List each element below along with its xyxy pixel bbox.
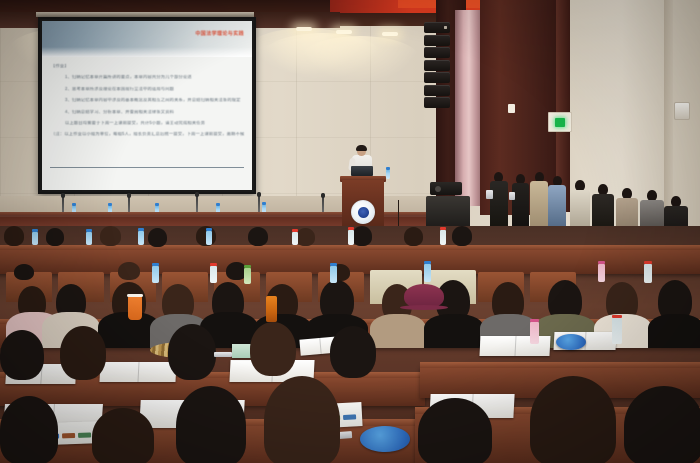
handout-image: [78, 432, 91, 437]
person-head: [250, 322, 296, 376]
person-head: [46, 228, 64, 246]
person-body: [530, 181, 548, 230]
person-head: [168, 324, 216, 380]
open-book: [479, 336, 550, 356]
person-head-foreground: [530, 376, 616, 463]
gooseneck-microphone: [196, 195, 198, 213]
person-head: [352, 226, 372, 246]
wall-light-glow: [300, 36, 420, 82]
university-emblem: [351, 200, 375, 224]
gooseneck-microphone: [258, 195, 260, 213]
person-head: [330, 326, 376, 378]
speaker-module: [424, 35, 450, 46]
water-bottle: [32, 232, 38, 245]
person-head-foreground: [176, 386, 246, 463]
line-array-speaker: [424, 22, 450, 114]
standing-person: [490, 172, 508, 228]
water-bottle: [424, 264, 431, 282]
podium: [340, 172, 386, 234]
slide-line: 3、归纳记忆本章内容中涉及的基本概念及其相互之间的关系，并总结归纳相关法条的规定: [51, 98, 244, 102]
desk-row: [0, 248, 700, 274]
person-shoulders: [424, 314, 484, 348]
standing-person: [548, 176, 566, 232]
person-head: [60, 326, 106, 380]
felt-hat: [404, 284, 444, 308]
person-head-foreground: [624, 386, 700, 463]
person-head-foreground: [418, 398, 492, 463]
water-bottle: [440, 230, 446, 245]
slide-line: 1、归纳记忆本章开篇所讲的要点，本章内容共分为几个部分论述: [51, 75, 244, 79]
person-head-foreground: [92, 408, 154, 463]
water-bottle: [152, 266, 159, 283]
person-head: [4, 226, 24, 246]
blue-container-lid: [556, 334, 586, 350]
person-body: [490, 181, 508, 228]
mobile-phone: [214, 352, 232, 357]
slide-title: 中国法学理论与实践: [195, 30, 244, 37]
slide-line: 以上题目均需要于下周一上课前提交，共计5小题，请主动完成相关任务: [51, 121, 244, 125]
emblem-mark-icon: [358, 207, 369, 218]
water-bottle: [348, 230, 354, 245]
water-bottle: [644, 264, 652, 283]
water-bottle: [292, 232, 298, 245]
open-book: [99, 362, 176, 382]
speaker-module: [424, 60, 450, 71]
water-bottle: [244, 268, 251, 284]
mauve-column: [455, 10, 483, 206]
standing-person: [512, 174, 529, 228]
person-head: [248, 227, 268, 246]
water-bottle: [386, 170, 390, 179]
downlight-icon: [336, 30, 352, 34]
water-bottle: [330, 266, 337, 283]
coffee-cup: [128, 296, 142, 320]
speaker-module: [424, 47, 450, 58]
person-head: [296, 228, 315, 246]
water-bottle: [612, 318, 622, 344]
downlight-icon: [296, 27, 312, 31]
wall-speaker-device: [674, 102, 690, 120]
person-head-foreground: [0, 396, 58, 463]
mobile-phone: [486, 190, 493, 199]
slide-banner-image: [42, 21, 252, 57]
person-shoulders: [370, 314, 426, 348]
person-head: [118, 262, 140, 280]
water-bottle: [206, 231, 212, 245]
desk-row-edge: [420, 362, 700, 368]
standing-person: [570, 180, 590, 232]
blue-container-lid: [360, 426, 410, 452]
audio-cable: [398, 200, 399, 228]
person-head: [452, 226, 472, 246]
water-bottle: [598, 264, 605, 282]
slide-line: （注：以上作业以小组为单位，每组5人，组长负责汇总后统一提交，下周一上课前提交，…: [51, 132, 244, 136]
slide-line: 4、归纳总结学习、分析本章、并查阅相关法律条文资料: [51, 110, 244, 114]
handout-image: [343, 414, 356, 420]
person-body: [512, 183, 529, 228]
water-bottle: [138, 231, 144, 245]
wall-bracket: [508, 104, 515, 113]
projection-screen: 中国法学理论与实践 【作业】 1、归纳记忆本章开篇所讲的要点，本章内容共分为几个…: [38, 17, 256, 194]
water-bottle: [210, 266, 217, 283]
speaker-module: [424, 85, 450, 96]
water-bottle: [530, 322, 539, 344]
audience-seating: [0, 226, 700, 463]
presenter-hair: [356, 145, 367, 151]
emergency-exit-sign: [548, 112, 572, 132]
laptop-screen: [351, 166, 373, 176]
right-wall-edge: [664, 0, 673, 228]
water-bottle: [86, 232, 92, 245]
slide-line: 2、思考本章所涉及理论在本国现行立法中的适用与问题: [51, 87, 244, 91]
person-shoulders: [648, 314, 700, 348]
person-head: [100, 226, 121, 246]
amplifier-box: [430, 182, 462, 195]
lecture-hall-photo: 中国法学理论与实践 【作业】 1、归纳记忆本章开篇所讲的要点，本章内容共分为几个…: [0, 0, 700, 463]
mobile-phone: [509, 192, 515, 200]
person-head-foreground: [264, 376, 340, 463]
thermos-bottle: [266, 296, 277, 322]
standing-person: [530, 172, 548, 230]
slide-body: 【作业】 1、归纳记忆本章开篇所讲的要点，本章内容共分为几个部分论述 2、思考本…: [51, 64, 244, 144]
person-head: [0, 330, 44, 380]
desk-row-edge: [0, 245, 700, 250]
handout-image: [62, 433, 75, 438]
slide-underline: [50, 167, 244, 168]
person-head: [404, 227, 423, 246]
speaker-module: [424, 72, 450, 83]
person-head: [14, 264, 34, 280]
downlight-icon: [382, 32, 398, 36]
speaker-module: [424, 97, 450, 108]
screen-surface: 中国法学理论与实践 【作业】 1、归纳记忆本章开篇所讲的要点，本章内容共分为几个…: [42, 21, 252, 190]
slide-line: 【作业】: [51, 64, 244, 68]
person-body: [548, 185, 566, 232]
exit-icon: [555, 118, 565, 127]
person-head: [148, 228, 167, 247]
